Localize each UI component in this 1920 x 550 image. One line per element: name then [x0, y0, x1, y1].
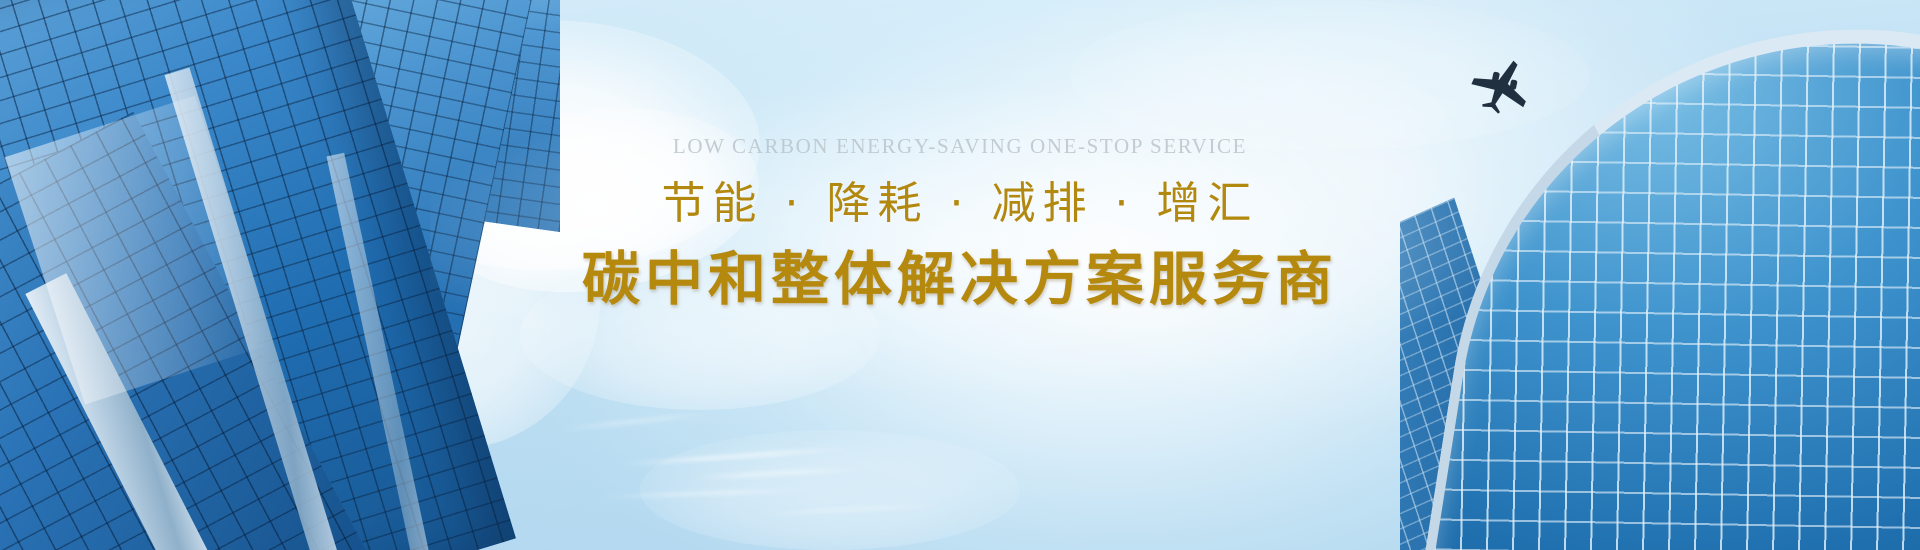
- hero-title: 碳中和整体解决方案服务商: [0, 243, 1920, 316]
- hero-copy: LOW CARBON ENERGY-SAVING ONE-STOP SERVIC…: [0, 134, 1920, 315]
- hero-banner: LOW CARBON ENERGY-SAVING ONE-STOP SERVIC…: [0, 0, 1920, 550]
- hero-eyebrow: LOW CARBON ENERGY-SAVING ONE-STOP SERVIC…: [0, 134, 1920, 159]
- hero-subtitle: 节能 · 降耗 · 减排 · 增汇: [0, 176, 1920, 232]
